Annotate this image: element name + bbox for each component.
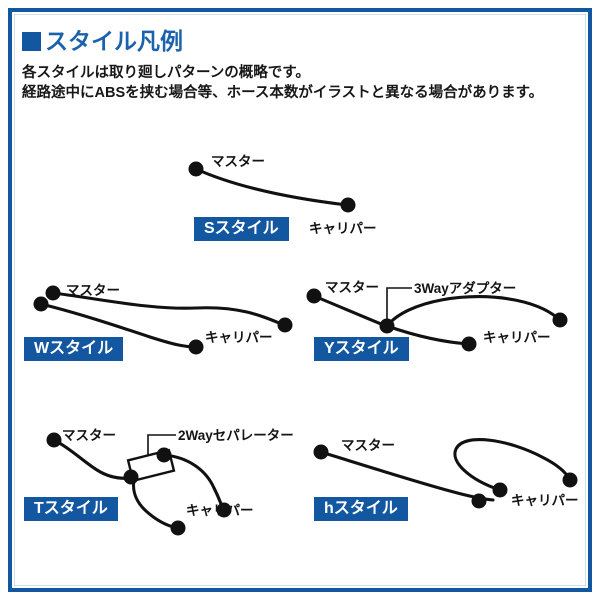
label-2way-separator-t: 2Wayセパレーター [178, 428, 294, 443]
node-caliper-h-1 [493, 483, 508, 498]
node-caliper-s [341, 198, 356, 213]
node-caliper-w-1 [278, 318, 293, 333]
node-separator-port-t [157, 448, 172, 463]
style-badge-h[interactable]: hスタイル [314, 497, 408, 521]
node-caliper-h-3 [563, 473, 578, 488]
node-caliper-t-2 [171, 521, 186, 536]
label-caliper-h: キャリパー [511, 493, 579, 508]
node-master-t [47, 433, 62, 448]
label-master-y: マスター [325, 280, 379, 295]
style-badge-y[interactable]: Yスタイル [314, 337, 409, 361]
label-master-s: マスター [211, 154, 265, 169]
node-master-y [307, 289, 322, 304]
node-caliper-h-2 [472, 494, 487, 509]
style-badge-w[interactable]: Wスタイル [24, 337, 123, 361]
node-master-w-1 [46, 286, 61, 301]
style-legend-page: スタイル凡例 各スタイルは取り廻しパターンの概略です。 経路途中にABSを挟む場… [0, 0, 600, 600]
hose-path-s-1 [196, 169, 347, 205]
hose-path-y-adapter-to-caliper-1 [387, 297, 560, 326]
node-master-s [189, 162, 204, 177]
node-junction-t [124, 470, 139, 485]
label-caliper-w: キャリパー [205, 330, 273, 345]
label-3way-adapter-y: 3Wayアダプター [414, 280, 516, 296]
hose-path-y-master-to-adapter [314, 296, 386, 326]
label-master-t: マスター [62, 428, 116, 443]
node-master-w-2 [34, 297, 49, 312]
hose-path-h-2 [455, 440, 570, 490]
label-caliper-s: キャリパー [309, 221, 377, 236]
node-3way-adapter-y [380, 319, 395, 334]
hose-path-h-1 [321, 452, 493, 500]
label-master-h: マスター [341, 438, 395, 453]
hose-path-t-master-to-separator [54, 440, 130, 478]
style-badge-s[interactable]: Sスタイル [194, 217, 289, 241]
node-caliper-y-2 [462, 337, 477, 352]
node-caliper-w-2 [189, 340, 204, 355]
label-master-w: マスター [66, 283, 120, 298]
style-badge-t[interactable]: Tスタイル [24, 497, 118, 521]
label-caliper-y: キャリパー [483, 330, 551, 345]
node-master-h [314, 445, 329, 460]
label-caliper-t: キャリパー [186, 503, 254, 518]
node-caliper-y-1 [553, 313, 568, 328]
